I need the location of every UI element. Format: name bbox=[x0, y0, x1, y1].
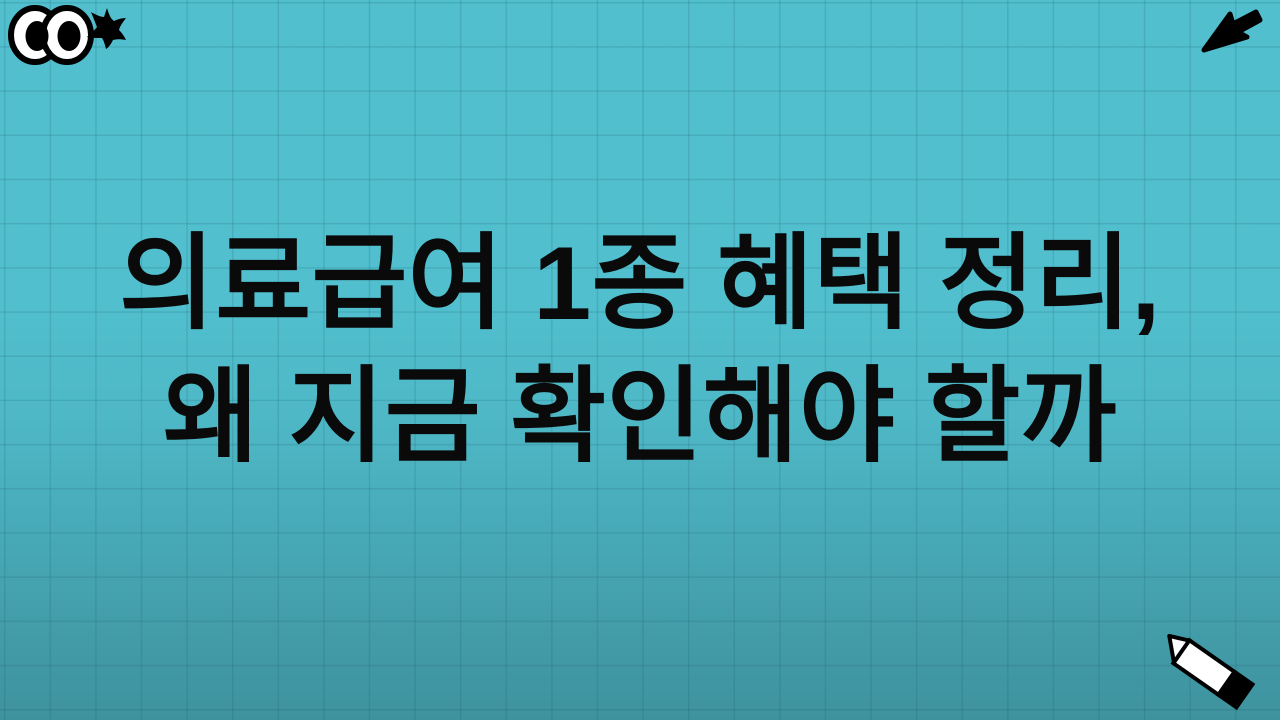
headline-line-1: 의료급여 1종 혜택 정리, bbox=[46, 218, 1234, 351]
page-title: 의료급여 1종 혜택 정리, 왜 지금 확인해야 할까 bbox=[0, 218, 1280, 484]
eyes-icon bbox=[8, 4, 94, 66]
headline-line-2: 왜 지금 확인해야 할까 bbox=[46, 351, 1234, 484]
cursor-arrow-icon bbox=[1200, 6, 1262, 58]
star-icon bbox=[84, 6, 128, 50]
thumbnail-canvas: 의료급여 1종 혜택 정리, 왜 지금 확인해야 할까 bbox=[0, 0, 1280, 720]
pencil-icon bbox=[1150, 632, 1258, 708]
